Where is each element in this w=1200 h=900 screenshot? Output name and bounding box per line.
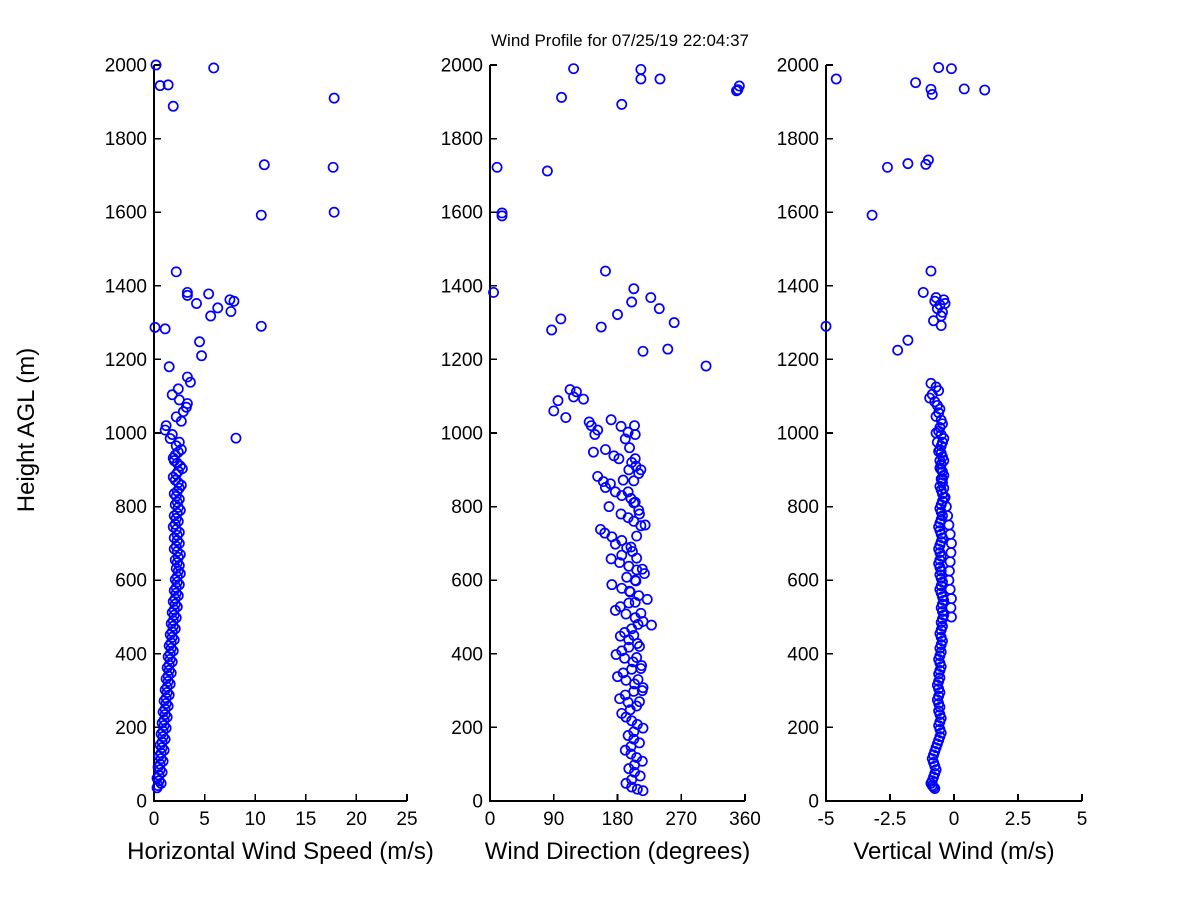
y-tick-label-wind-direction-1: 200 [451, 718, 483, 739]
y-tick-label-vertical-wind-3: 600 [787, 571, 819, 592]
x-tick-label-horizontal-wind-speed-0: 0 [149, 809, 160, 830]
x-tick-label-vertical-wind-2: 0 [949, 809, 960, 830]
x-tick-label-wind-direction-2: 180 [602, 809, 634, 830]
x-tick-label-wind-direction-3: 270 [665, 809, 697, 830]
y-tick-label-vertical-wind-5: 1000 [777, 424, 819, 445]
y-tick-label-horizontal-wind-speed-6: 1200 [105, 350, 147, 371]
x-tick-label-vertical-wind-4: 5 [1077, 809, 1088, 830]
y-tick-label-horizontal-wind-speed-3: 600 [115, 571, 147, 592]
x-axis-label-wind-direction: Wind Direction (degrees) [485, 838, 750, 865]
x-tick-label-wind-direction-4: 360 [729, 809, 761, 830]
x-tick-label-horizontal-wind-speed-1: 5 [199, 809, 210, 830]
x-tick-label-wind-direction-0: 0 [485, 809, 496, 830]
y-tick-label-horizontal-wind-speed-4: 800 [115, 497, 147, 518]
x-tick-label-vertical-wind-0: -5 [818, 809, 835, 830]
y-tick-label-horizontal-wind-speed-8: 1600 [105, 203, 147, 224]
y-tick-label-wind-direction-10: 2000 [441, 56, 483, 77]
y-tick-label-wind-direction-2: 400 [451, 644, 483, 665]
x-axis-label-horizontal-wind-speed: Horizontal Wind Speed (m/s) [127, 838, 434, 865]
y-tick-label-horizontal-wind-speed-9: 1800 [105, 129, 147, 150]
y-tick-label-horizontal-wind-speed-5: 1000 [105, 424, 147, 445]
figure-background [0, 0, 1200, 900]
y-tick-label-vertical-wind-9: 1800 [777, 129, 819, 150]
x-tick-label-vertical-wind-1: -2.5 [874, 809, 907, 830]
y-tick-label-wind-direction-0: 0 [472, 792, 483, 813]
y-axis-label: Height AGL (m) [13, 348, 40, 513]
y-tick-label-wind-direction-3: 600 [451, 571, 483, 592]
y-tick-label-horizontal-wind-speed-0: 0 [136, 792, 147, 813]
y-tick-label-wind-direction-5: 1000 [441, 424, 483, 445]
y-tick-label-vertical-wind-8: 1600 [777, 203, 819, 224]
x-tick-label-vertical-wind-3: 2.5 [1005, 809, 1031, 830]
y-tick-label-vertical-wind-7: 1400 [777, 276, 819, 297]
y-tick-label-vertical-wind-2: 400 [787, 644, 819, 665]
figure-title: Wind Profile for 07/25/19 22:04:37 [491, 31, 749, 50]
x-tick-label-wind-direction-1: 90 [543, 809, 564, 830]
y-tick-label-wind-direction-7: 1400 [441, 276, 483, 297]
y-tick-label-horizontal-wind-speed-10: 2000 [105, 56, 147, 77]
y-tick-label-wind-direction-8: 1600 [441, 203, 483, 224]
y-tick-label-vertical-wind-10: 2000 [777, 56, 819, 77]
y-tick-label-vertical-wind-4: 800 [787, 497, 819, 518]
y-tick-label-horizontal-wind-speed-2: 400 [115, 644, 147, 665]
y-tick-label-vertical-wind-6: 1200 [777, 350, 819, 371]
y-tick-label-wind-direction-6: 1200 [441, 350, 483, 371]
y-tick-label-horizontal-wind-speed-7: 1400 [105, 276, 147, 297]
wind-profile-figure: Wind Profile for 07/25/19 22:04:37 Heigh… [0, 0, 1200, 900]
wind-profile-svg: Wind Profile for 07/25/19 22:04:37 Heigh… [0, 0, 1200, 900]
y-tick-label-wind-direction-9: 1800 [441, 129, 483, 150]
x-axis-label-vertical-wind: Vertical Wind (m/s) [853, 838, 1054, 865]
y-tick-label-wind-direction-4: 800 [451, 497, 483, 518]
y-tick-label-horizontal-wind-speed-1: 200 [115, 718, 147, 739]
x-tick-label-horizontal-wind-speed-3: 15 [295, 809, 316, 830]
y-tick-label-vertical-wind-1: 200 [787, 718, 819, 739]
x-tick-label-horizontal-wind-speed-5: 25 [396, 809, 417, 830]
x-tick-label-horizontal-wind-speed-2: 10 [245, 809, 266, 830]
x-tick-label-horizontal-wind-speed-4: 20 [346, 809, 367, 830]
